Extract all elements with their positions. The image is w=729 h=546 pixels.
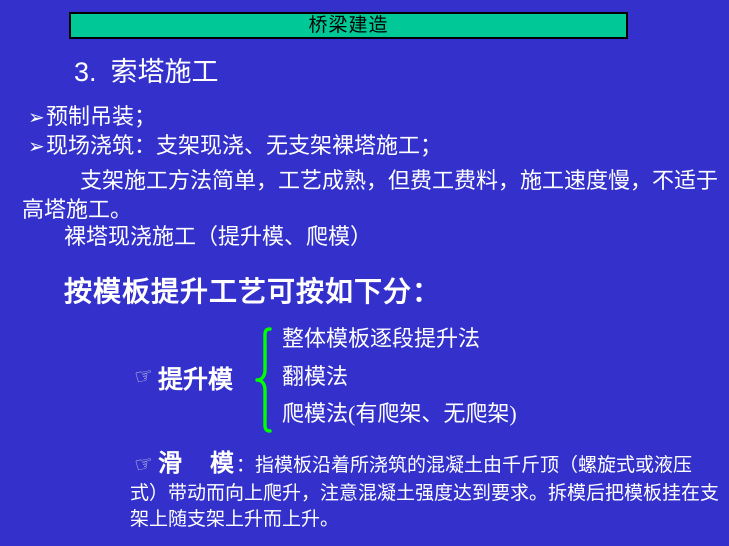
- header-banner: 桥梁建造: [69, 12, 628, 39]
- list-item: 翻模法: [282, 366, 348, 388]
- brace-group: ☞ 提升模 整体模板逐段提升法 翻模法 爬模法(有爬架、无爬架): [130, 324, 690, 436]
- section-title: 索塔施工: [111, 57, 219, 87]
- list-item: 整体模板逐段提升法: [282, 328, 480, 350]
- brace-group-label: 提升模: [158, 360, 233, 396]
- list-item-label: 预制吊装；: [46, 104, 156, 129]
- arrow-bullet-icon: ➢: [28, 107, 46, 130]
- body-paragraph: 支架施工方法简单，工艺成熟，但费工费料，施工速度慢，不适于高塔施工。: [22, 166, 722, 224]
- slide-canvas: 桥梁建造 3.索塔施工 ➢预制吊装； ➢现场浇筑：支架现浇、无支架裸塔施工； 支…: [0, 0, 729, 546]
- list-item-label: 现场浇筑：支架现浇、无支架裸塔施工；: [46, 133, 442, 158]
- list-item: ➢现场浇筑：支架现浇、无支架裸塔施工；: [28, 133, 442, 159]
- banner-title: 桥梁建造: [308, 16, 388, 35]
- arrow-bullet-icon: ➢: [28, 136, 46, 159]
- definition-colon: ：: [236, 455, 255, 476]
- section-number: 3.: [74, 57, 97, 87]
- list-item: 爬模法(有爬架、无爬架): [282, 403, 517, 425]
- pointing-hand-icon: ☞: [131, 450, 158, 478]
- pointing-hand-icon: ☞: [131, 362, 158, 390]
- curly-brace-icon: [254, 326, 274, 434]
- definition-text: 滑 模：指模板沿着所浇筑的混凝土由千斤顶（螺旋式或液压式）带动而向上爬升，注意混…: [130, 448, 720, 534]
- sub-line: 裸塔现浇施工（提升模、爬模）: [64, 219, 372, 251]
- subsection-heading: 按模板提升工艺可按如下分：: [64, 270, 441, 310]
- definition-term: 滑 模: [158, 451, 236, 477]
- definition-block: ☞ 滑 模：指模板沿着所浇筑的混凝土由千斤顶（螺旋式或液压式）带动而向上爬升，注…: [130, 448, 720, 534]
- list-item: ➢预制吊装；: [28, 104, 156, 130]
- page-title: 3.索塔施工: [74, 50, 219, 89]
